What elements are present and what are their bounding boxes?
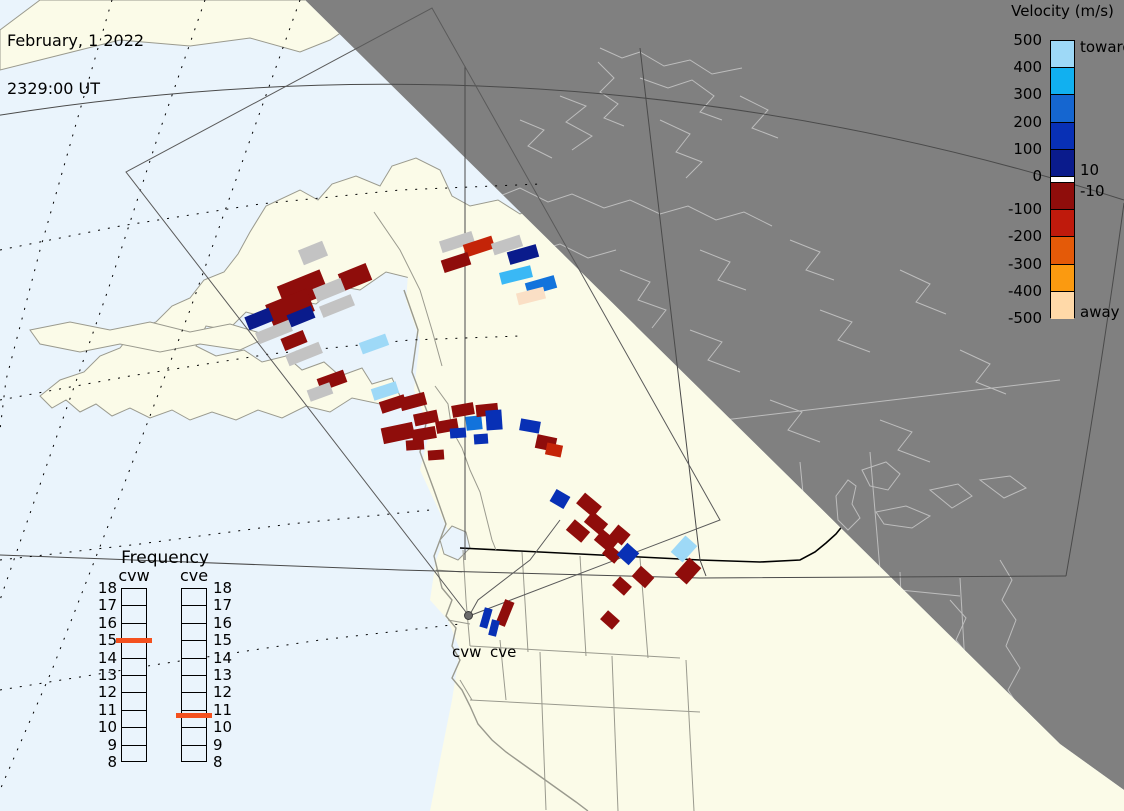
frequency-tick-cve-17: 17: [213, 596, 232, 614]
colorbar-title: Velocity (m/s): [1000, 2, 1124, 20]
colorbar-tick--500: -500: [1008, 309, 1042, 327]
frequency-tick-cvw-10: 10: [93, 718, 117, 736]
colorbar-tick-0: 0: [1032, 167, 1042, 185]
frequency-segment: [182, 746, 206, 763]
velocity-cell: [406, 439, 425, 450]
frequency-tick-cve-12: 12: [213, 683, 232, 701]
frequency-tick-cvw-15: 15: [93, 631, 117, 649]
frequency-segment: [122, 711, 146, 728]
velocity-colorbar: Velocity (m/s) 5004003002001000-100-200-…: [1005, 2, 1124, 332]
frequency-segment: [122, 641, 146, 658]
frequency-segment: [122, 659, 146, 676]
colorbar-band-6: [1051, 183, 1074, 210]
colorbar-tick--400: -400: [1008, 282, 1042, 300]
colorbar-band-4: [1051, 150, 1074, 177]
frequency-tick-cve-14: 14: [213, 649, 232, 667]
colorbar-tick-100: 100: [1013, 140, 1042, 158]
frequency-segment: [122, 589, 146, 606]
frequency-legend: Frequency cvw18171615141312111098cve1817…: [85, 548, 245, 783]
frequency-tick-cve-15: 15: [213, 631, 232, 649]
frequency-tick-cve-11: 11: [213, 701, 232, 719]
colorbar-band-3: [1051, 123, 1074, 150]
frequency-scale-cvw: [121, 588, 147, 762]
frequency-marker-cve: [176, 713, 212, 718]
colorbar-strip: [1050, 40, 1075, 318]
colorbar-tick-500: 500: [1013, 31, 1042, 49]
frequency-tick-cvw-9: 9: [93, 736, 117, 754]
frequency-tick-cvw-17: 17: [93, 596, 117, 614]
frequency-tick-cvw-12: 12: [93, 683, 117, 701]
frequency-segment: [182, 676, 206, 693]
timestamp-time: 2329:00 UT: [7, 81, 144, 97]
frequency-marker-cvw: [116, 638, 152, 643]
frequency-tick-cve-13: 13: [213, 666, 232, 684]
frequency-segment: [182, 641, 206, 658]
frequency-segment: [182, 659, 206, 676]
velocity-cell: [474, 434, 489, 445]
frequency-tick-cvw-16: 16: [93, 614, 117, 632]
frequency-segment: [182, 624, 206, 641]
frequency-tick-cve-16: 16: [213, 614, 232, 632]
colorbar-band-8: [1051, 237, 1074, 264]
colorbar-band-10: [1051, 292, 1074, 319]
velocity-cell: [465, 415, 482, 431]
colorbar-label-away: away: [1080, 303, 1120, 321]
frequency-segment: [182, 728, 206, 745]
timestamp-block: February, 1 2022 2329:00 UT: [7, 1, 144, 129]
frequency-tick-cvw-14: 14: [93, 649, 117, 667]
colorbar-band-1: [1051, 68, 1074, 95]
velocity-cell: [428, 449, 445, 460]
frequency-segment: [122, 728, 146, 745]
colorbar-tick--200: -200: [1008, 227, 1042, 245]
frequency-segment: [122, 746, 146, 763]
frequency-segment: [122, 693, 146, 710]
colorbar-band-7: [1051, 210, 1074, 237]
frequency-tick-cvw-11: 11: [93, 701, 117, 719]
frequency-segment: [182, 606, 206, 623]
colorbar-label-near-zero-negative: -10: [1080, 182, 1105, 200]
frequency-tick-cvw-8: 8: [93, 753, 117, 771]
velocity-cell: [485, 409, 502, 430]
frequency-tick-cvw-18: 18: [93, 579, 117, 597]
frequency-segment: [122, 676, 146, 693]
frequency-legend-title: Frequency: [85, 548, 245, 568]
frequency-scale-cve: [181, 588, 207, 762]
colorbar-tick-300: 300: [1013, 85, 1042, 103]
velocity-cell: [450, 427, 467, 438]
frequency-tick-cvw-13: 13: [93, 666, 117, 684]
radar-site-dot: [464, 611, 473, 620]
colorbar-tick--300: -300: [1008, 255, 1042, 273]
frequency-segment: [122, 606, 146, 623]
colorbar-band-2: [1051, 95, 1074, 122]
colorbar-band-0: [1051, 41, 1074, 68]
frequency-segment: [182, 589, 206, 606]
radar-site-label-cvw: cvw: [452, 643, 481, 661]
aleutian-islands: [30, 322, 270, 352]
colorbar-band-9: [1051, 265, 1074, 292]
timestamp-date: February, 1 2022: [7, 33, 144, 49]
frequency-tick-cve-9: 9: [213, 736, 223, 754]
frequency-column-label-cve: cve: [174, 566, 214, 585]
colorbar-tick-200: 200: [1013, 113, 1042, 131]
superdarn-velocity-map: February, 1 2022 2329:00 UT Velocity (m/…: [0, 0, 1124, 811]
frequency-column-label-cvw: cvw: [114, 566, 154, 585]
colorbar-tick--100: -100: [1008, 200, 1042, 218]
colorbar-tick-400: 400: [1013, 58, 1042, 76]
radar-site-label-cve: cve: [490, 643, 516, 661]
colorbar-label-toward: toward: [1080, 38, 1124, 56]
frequency-segment: [182, 693, 206, 710]
frequency-tick-cve-18: 18: [213, 579, 232, 597]
frequency-tick-cve-10: 10: [213, 718, 232, 736]
colorbar-label-near-zero-positive: 10: [1080, 161, 1099, 179]
frequency-tick-cve-8: 8: [213, 753, 223, 771]
